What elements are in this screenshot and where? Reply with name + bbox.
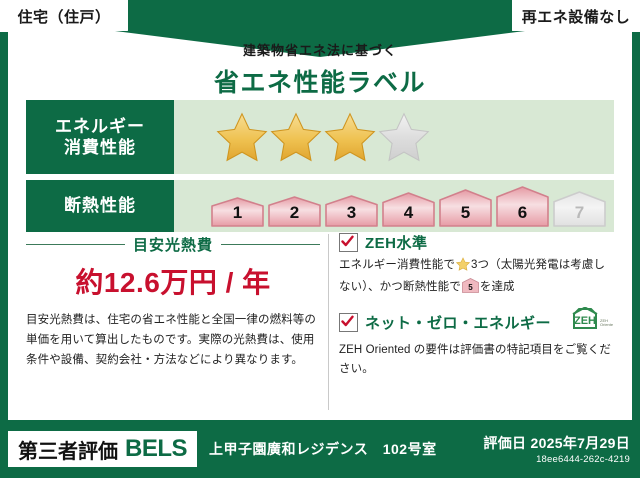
cost-note: 目安光熱費は、住宅の省エネ性能と全国一律の燃料等の単価を用いて算出したものです。… bbox=[26, 311, 320, 370]
house-level-label: 1 bbox=[210, 203, 265, 223]
cost-amount: 約12.6万円 / 年 bbox=[26, 261, 320, 301]
check-icon bbox=[341, 235, 354, 248]
house-level-5: 5 bbox=[438, 189, 493, 227]
house-level-label: 5 bbox=[438, 203, 493, 223]
house-level-label: 2 bbox=[267, 203, 322, 223]
page-title: 省エネ性能ラベル bbox=[8, 63, 632, 99]
certificate-code: 18ee6444-262c-4219 bbox=[483, 454, 630, 465]
footer-right: 評価日 2025年7月29日 18ee6444-262c-4219 bbox=[483, 433, 630, 465]
star-empty-icon bbox=[378, 111, 430, 163]
zeh-text-part2: を達成 bbox=[480, 281, 515, 293]
energy-label-line2: 消費性能 bbox=[55, 137, 145, 158]
title-block: 建築物省エネ法に基づく 省エネ性能ラベル bbox=[8, 40, 632, 99]
house-level-4: 4 bbox=[381, 192, 436, 227]
star-rating bbox=[174, 111, 430, 163]
zeh-netzero-header: ネット・ゼロ・エネルギー ZEH ZEH Oriented bbox=[339, 307, 614, 338]
cost-heading: 目安光熱費 bbox=[133, 234, 213, 255]
house-level-3: 3 bbox=[324, 195, 379, 227]
house-level-label: 4 bbox=[381, 203, 436, 223]
footer-bar: 第三者評価 BELS 上甲子園廣和レジデンス 102号室 評価日 2025年7月… bbox=[0, 420, 640, 478]
insulation-performance-label: 断熱性能 bbox=[26, 180, 174, 232]
house-level-label: 7 bbox=[552, 203, 607, 223]
zeh-standard-block: ZEH水準 エネルギー消費性能で3つ（太陽光発電は考慮しない）、かつ断熱性能で5… bbox=[339, 232, 614, 301]
energy-performance-label: エネルギー 消費性能 bbox=[26, 100, 174, 174]
zeh-logo-sub2: Oriented bbox=[600, 322, 613, 327]
inline-star-icon bbox=[456, 257, 470, 278]
cost-heading-row: 目安光熱費 bbox=[26, 234, 320, 255]
vertical-divider bbox=[328, 234, 329, 410]
energy-label-line1: エネルギー bbox=[55, 116, 145, 137]
bels-prefix: 第三者評価 bbox=[18, 435, 118, 464]
zeh-netzero-block: ネット・ゼロ・エネルギー ZEH ZEH Oriented ZEH Orient… bbox=[339, 307, 614, 380]
house-level-2: 2 bbox=[267, 196, 322, 227]
cost-section: 目安光熱費 約12.6万円 / 年 目安光熱費は、住宅の省エネ性能と全国一律の燃… bbox=[26, 232, 328, 412]
performance-rows: エネルギー 消費性能 断熱性能 1234567 bbox=[26, 100, 614, 238]
insulation-performance-value: 1234567 bbox=[174, 180, 614, 232]
house-level-7: 7 bbox=[552, 191, 607, 227]
house-rating: 1234567 bbox=[174, 186, 607, 227]
bels-mark: BELS bbox=[125, 435, 187, 463]
house-level-1: 1 bbox=[210, 197, 265, 227]
inline-house-level: 5 bbox=[468, 283, 473, 292]
energy-label-root: 住宅（住戸） 再エネ設備なし 建築物省エネ法に基づく 省エネ性能ラベル エネルギ… bbox=[0, 0, 640, 478]
evaluation-date: 評価日 2025年7月29日 bbox=[483, 433, 630, 453]
zeh-text-part1: エネルギー消費性能で bbox=[339, 259, 455, 271]
house-level-6: 6 bbox=[495, 186, 550, 227]
cost-rule-right bbox=[221, 244, 320, 245]
property-name: 上甲子園廣和レジデンス 102号室 bbox=[209, 439, 437, 459]
zeh-standard-checkbox[interactable] bbox=[339, 233, 358, 252]
zeh-netzero-text: ZEH Oriented の要件は評価書の特記項目をご覧ください。 bbox=[339, 341, 614, 380]
check-icon bbox=[341, 315, 354, 328]
star-filled-icon bbox=[324, 111, 376, 163]
house-level-label: 3 bbox=[324, 203, 379, 223]
row-energy-performance: エネルギー 消費性能 bbox=[26, 100, 614, 174]
zeh-oriented-logo: ZEH ZEH Oriented bbox=[561, 307, 613, 338]
zeh-netzero-checkbox[interactable] bbox=[339, 313, 358, 332]
zeh-section: ZEH水準 エネルギー消費性能で3つ（太陽光発電は考慮しない）、かつ断熱性能で5… bbox=[339, 232, 614, 412]
zeh-logo-text: ZEH bbox=[574, 315, 596, 327]
star-filled-icon bbox=[270, 111, 322, 163]
row-insulation-performance: 断熱性能 1234567 bbox=[26, 180, 614, 232]
bels-badge: 第三者評価 BELS bbox=[8, 431, 197, 467]
lower-section: 目安光熱費 約12.6万円 / 年 目安光熱費は、住宅の省エネ性能と全国一律の燃… bbox=[26, 232, 614, 412]
zeh-netzero-title: ネット・ゼロ・エネルギー bbox=[365, 312, 551, 333]
label-card: 建築物省エネ法に基づく 省エネ性能ラベル エネルギー 消費性能 断熱性能 bbox=[8, 32, 632, 420]
tag-building-type: 住宅（住戸） bbox=[0, 0, 128, 32]
cost-rule-left bbox=[26, 244, 125, 245]
zeh-standard-text: エネルギー消費性能で3つ（太陽光発電は考慮しない）、かつ断熱性能で5を達成 bbox=[339, 256, 614, 301]
house-level-label: 6 bbox=[495, 203, 550, 223]
zeh-standard-title: ZEH水準 bbox=[365, 232, 428, 253]
tag-renewable-equipment: 再エネ設備なし bbox=[512, 0, 640, 32]
zeh-standard-header: ZEH水準 bbox=[339, 232, 614, 253]
inline-house-5-icon: 5 bbox=[462, 278, 479, 300]
title-subtitle: 建築物省エネ法に基づく bbox=[8, 40, 632, 59]
energy-performance-value bbox=[174, 100, 614, 174]
star-filled-icon bbox=[216, 111, 268, 163]
